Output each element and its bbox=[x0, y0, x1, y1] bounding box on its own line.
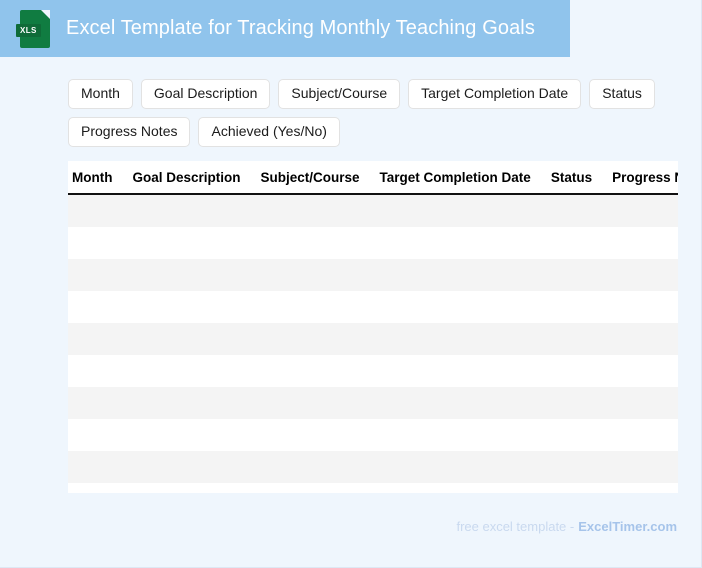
goals-table-container: Month Goal Description Subject/Course Ta… bbox=[68, 161, 678, 493]
table-cell[interactable] bbox=[541, 419, 602, 451]
goals-table-head: Month Goal Description Subject/Course Ta… bbox=[68, 161, 678, 194]
table-cell[interactable] bbox=[122, 227, 250, 259]
table-cell[interactable] bbox=[251, 323, 370, 355]
table-cell[interactable] bbox=[370, 355, 541, 387]
table-row[interactable] bbox=[68, 483, 678, 493]
field-chip-target-completion-date[interactable]: Target Completion Date bbox=[408, 79, 581, 109]
table-cell[interactable] bbox=[251, 291, 370, 323]
table-cell[interactable] bbox=[602, 194, 678, 227]
table-cell[interactable] bbox=[251, 419, 370, 451]
column-header-goal-description[interactable]: Goal Description bbox=[122, 161, 250, 194]
table-cell[interactable] bbox=[541, 483, 602, 493]
table-row[interactable] bbox=[68, 387, 678, 419]
table-cell[interactable] bbox=[251, 259, 370, 291]
table-cell[interactable] bbox=[68, 483, 122, 493]
table-cell[interactable] bbox=[541, 323, 602, 355]
table-cell[interactable] bbox=[122, 419, 250, 451]
table-cell[interactable] bbox=[370, 259, 541, 291]
table-cell[interactable] bbox=[602, 259, 678, 291]
table-cell[interactable] bbox=[68, 194, 122, 227]
table-cell[interactable] bbox=[370, 323, 541, 355]
table-cell[interactable] bbox=[602, 291, 678, 323]
column-header-month[interactable]: Month bbox=[68, 161, 122, 194]
table-cell[interactable] bbox=[122, 355, 250, 387]
table-cell[interactable] bbox=[251, 483, 370, 493]
table-cell[interactable] bbox=[122, 259, 250, 291]
table-row[interactable] bbox=[68, 451, 678, 483]
table-cell[interactable] bbox=[122, 451, 250, 483]
table-cell[interactable] bbox=[251, 194, 370, 227]
table-cell[interactable] bbox=[68, 355, 122, 387]
goals-table-body bbox=[68, 194, 678, 493]
field-chip-goal-description[interactable]: Goal Description bbox=[141, 79, 271, 109]
table-cell[interactable] bbox=[602, 451, 678, 483]
table-cell[interactable] bbox=[602, 227, 678, 259]
table-cell[interactable] bbox=[68, 387, 122, 419]
table-cell[interactable] bbox=[122, 323, 250, 355]
table-cell[interactable] bbox=[251, 387, 370, 419]
table-cell[interactable] bbox=[370, 194, 541, 227]
table-cell[interactable] bbox=[370, 483, 541, 493]
footer-credit: free excel template -ExcelTimer.com bbox=[456, 519, 677, 534]
table-cell[interactable] bbox=[370, 451, 541, 483]
table-cell[interactable] bbox=[68, 291, 122, 323]
table-cell[interactable] bbox=[68, 451, 122, 483]
field-chip-list: Month Goal Description Subject/Course Ta… bbox=[68, 79, 678, 147]
footer-free-text: free excel template - bbox=[456, 519, 574, 534]
xls-icon-label: XLS bbox=[16, 24, 41, 37]
table-row[interactable] bbox=[68, 419, 678, 451]
field-chip-progress-notes[interactable]: Progress Notes bbox=[68, 117, 190, 147]
table-cell[interactable] bbox=[122, 387, 250, 419]
table-cell[interactable] bbox=[122, 483, 250, 493]
table-row[interactable] bbox=[68, 355, 678, 387]
table-cell[interactable] bbox=[370, 387, 541, 419]
table-cell[interactable] bbox=[602, 323, 678, 355]
goals-table-header-row: Month Goal Description Subject/Course Ta… bbox=[68, 161, 678, 194]
table-cell[interactable] bbox=[68, 323, 122, 355]
table-cell[interactable] bbox=[122, 194, 250, 227]
table-cell[interactable] bbox=[68, 419, 122, 451]
footer-brand-link[interactable]: ExcelTimer.com bbox=[578, 519, 677, 534]
table-cell[interactable] bbox=[541, 227, 602, 259]
table-cell[interactable] bbox=[541, 291, 602, 323]
table-cell[interactable] bbox=[68, 227, 122, 259]
table-row[interactable] bbox=[68, 291, 678, 323]
table-cell[interactable] bbox=[370, 291, 541, 323]
field-chip-subject-course[interactable]: Subject/Course bbox=[278, 79, 400, 109]
header-banner: XLS Excel Template for Tracking Monthly … bbox=[0, 0, 570, 57]
goals-table: Month Goal Description Subject/Course Ta… bbox=[68, 161, 678, 493]
column-header-target-completion-date[interactable]: Target Completion Date bbox=[370, 161, 541, 194]
table-cell[interactable] bbox=[541, 194, 602, 227]
table-cell[interactable] bbox=[541, 387, 602, 419]
table-cell[interactable] bbox=[541, 259, 602, 291]
table-cell[interactable] bbox=[68, 259, 122, 291]
table-row[interactable] bbox=[68, 227, 678, 259]
xls-icon-fold-corner bbox=[41, 10, 50, 19]
table-cell[interactable] bbox=[251, 227, 370, 259]
table-cell[interactable] bbox=[370, 419, 541, 451]
table-cell[interactable] bbox=[251, 451, 370, 483]
page-title: Excel Template for Tracking Monthly Teac… bbox=[66, 17, 535, 40]
table-cell[interactable] bbox=[370, 227, 541, 259]
table-cell[interactable] bbox=[541, 451, 602, 483]
column-header-progress-notes[interactable]: Progress Notes bbox=[602, 161, 678, 194]
table-cell[interactable] bbox=[602, 355, 678, 387]
column-header-subject-course[interactable]: Subject/Course bbox=[251, 161, 370, 194]
table-cell[interactable] bbox=[122, 291, 250, 323]
field-chip-status[interactable]: Status bbox=[589, 79, 655, 109]
table-row[interactable] bbox=[68, 194, 678, 227]
xls-file-icon: XLS bbox=[20, 10, 50, 48]
table-cell[interactable] bbox=[541, 355, 602, 387]
table-cell[interactable] bbox=[602, 387, 678, 419]
table-cell[interactable] bbox=[602, 483, 678, 493]
column-header-status[interactable]: Status bbox=[541, 161, 602, 194]
field-chip-month[interactable]: Month bbox=[68, 79, 133, 109]
table-cell[interactable] bbox=[602, 419, 678, 451]
table-cell[interactable] bbox=[251, 355, 370, 387]
table-row[interactable] bbox=[68, 259, 678, 291]
field-chip-achieved[interactable]: Achieved (Yes/No) bbox=[198, 117, 339, 147]
table-row[interactable] bbox=[68, 323, 678, 355]
